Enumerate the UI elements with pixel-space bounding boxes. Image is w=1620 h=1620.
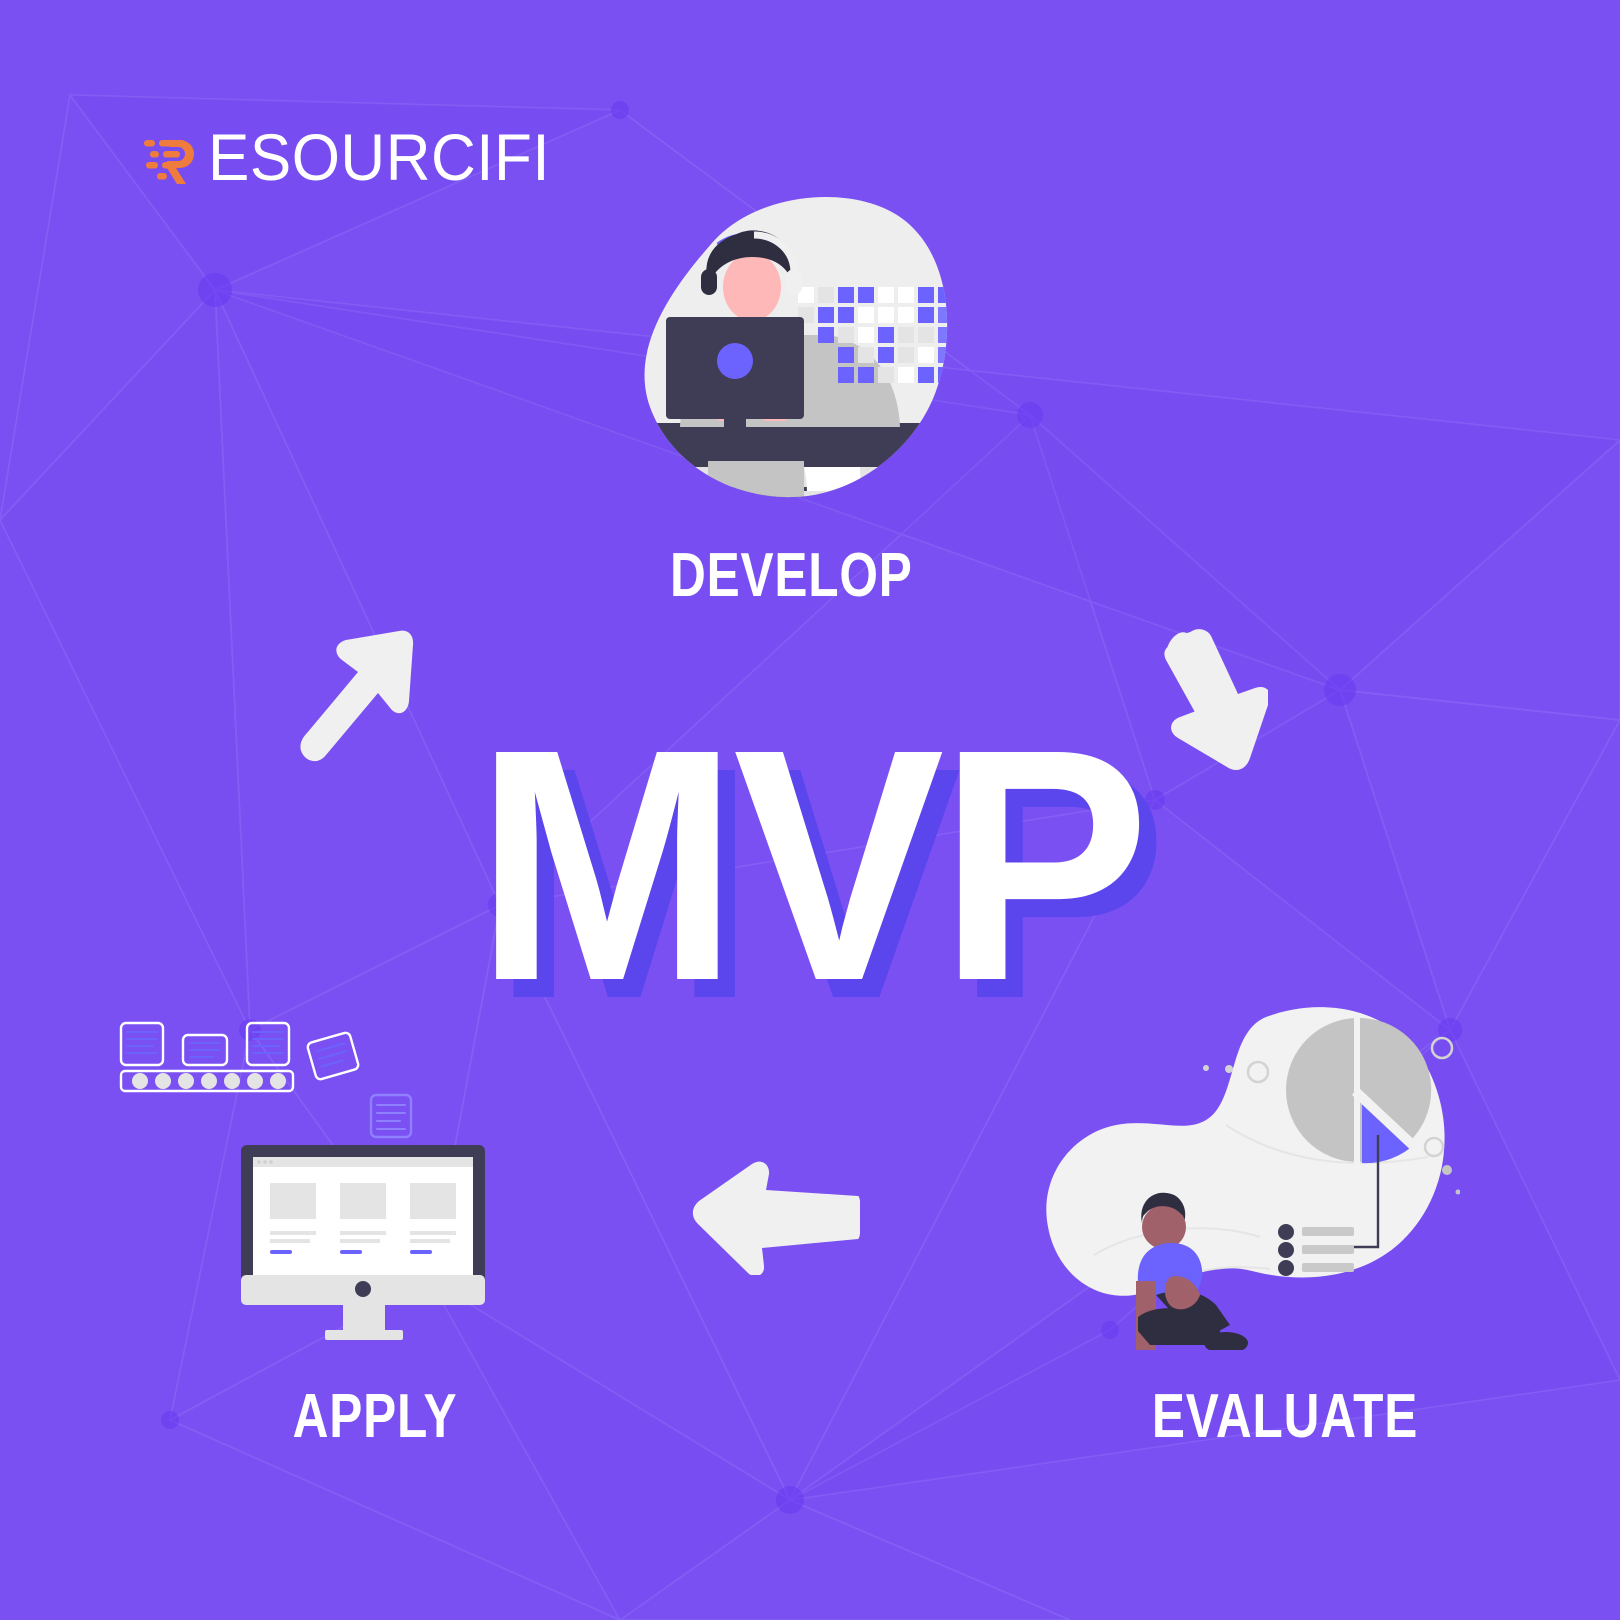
illustration-develop xyxy=(600,195,990,525)
brand-logo-text: ESOURCIFI xyxy=(208,126,550,192)
infographic-canvas: ESOURCIFI xyxy=(0,0,1620,1620)
illustration-apply xyxy=(95,975,525,1350)
stage-label-evaluate: EVALUATE xyxy=(1141,1386,1429,1448)
stage-label-develop: DEVELOP xyxy=(670,545,910,607)
brand-logo[interactable]: ESOURCIFI xyxy=(140,128,550,190)
arrow-down-right-icon xyxy=(1118,618,1268,788)
stage-label-apply: APPLY xyxy=(271,1386,479,1448)
resourcifi-r-speed-icon xyxy=(140,128,202,190)
chart-legend xyxy=(1278,1224,1354,1276)
arrow-left-icon xyxy=(690,1160,860,1275)
arrow-up-right-icon xyxy=(296,625,436,770)
illustration-evaluate xyxy=(1030,965,1460,1350)
desktop-monitor xyxy=(241,1145,485,1340)
